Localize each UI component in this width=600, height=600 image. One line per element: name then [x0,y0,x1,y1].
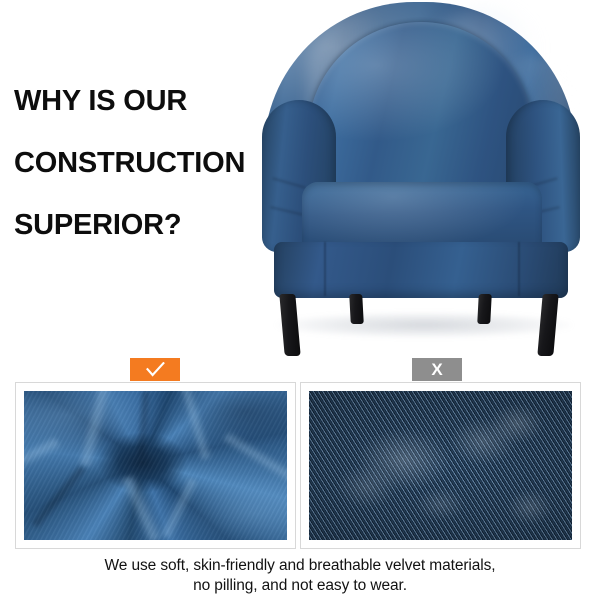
chair-base-skirt [274,242,568,298]
headline-line-3: SUPERIOR? [14,194,254,256]
velvet-barrel-chair [250,0,590,368]
base-seam [324,242,326,296]
velvet-fold [24,435,61,482]
velvet-photo-frame [15,382,296,549]
fabric-comparison: X [0,355,600,555]
caption-line-1: We use soft, skin-friendly and breathabl… [40,556,560,576]
floor-shadow [276,312,572,338]
product-feature-card: WHY IS OUR CONSTRUCTION SUPERIOR? [0,0,600,600]
chair-leg-back-right [477,294,492,324]
check-badge [130,358,180,381]
hero-product-photo: WHY IS OUR CONSTRUCTION SUPERIOR? [0,0,600,372]
chair-leg-back-left [349,294,364,324]
denim-photo-frame [300,382,581,549]
feature-caption: We use soft, skin-friendly and breathabl… [40,556,560,596]
velvet-fold [160,478,199,540]
cross-icon: X [431,361,442,378]
chair-leg-front-left [279,294,300,356]
headline-line-2: CONSTRUCTION [14,132,254,194]
chair-leg-front-right [537,294,558,356]
velvet-fold [119,474,162,540]
caption-line-2: no pilling, and not easy to wear. [40,576,560,596]
base-seam [518,242,520,296]
velvet-shadow-fold [135,391,152,457]
page-headline: WHY IS OUR CONSTRUCTION SUPERIOR? [14,70,254,256]
velvet-shadow-fold [30,465,87,530]
velvet-fold [77,391,113,468]
check-icon [146,362,165,377]
coarse-denim-fabric-swatch [309,391,572,540]
velvet-fabric-swatch [24,391,287,540]
cross-badge: X [412,358,462,381]
velvet-fold [222,430,287,483]
headline-line-1: WHY IS OUR [14,70,254,132]
velvet-fold [177,391,212,461]
